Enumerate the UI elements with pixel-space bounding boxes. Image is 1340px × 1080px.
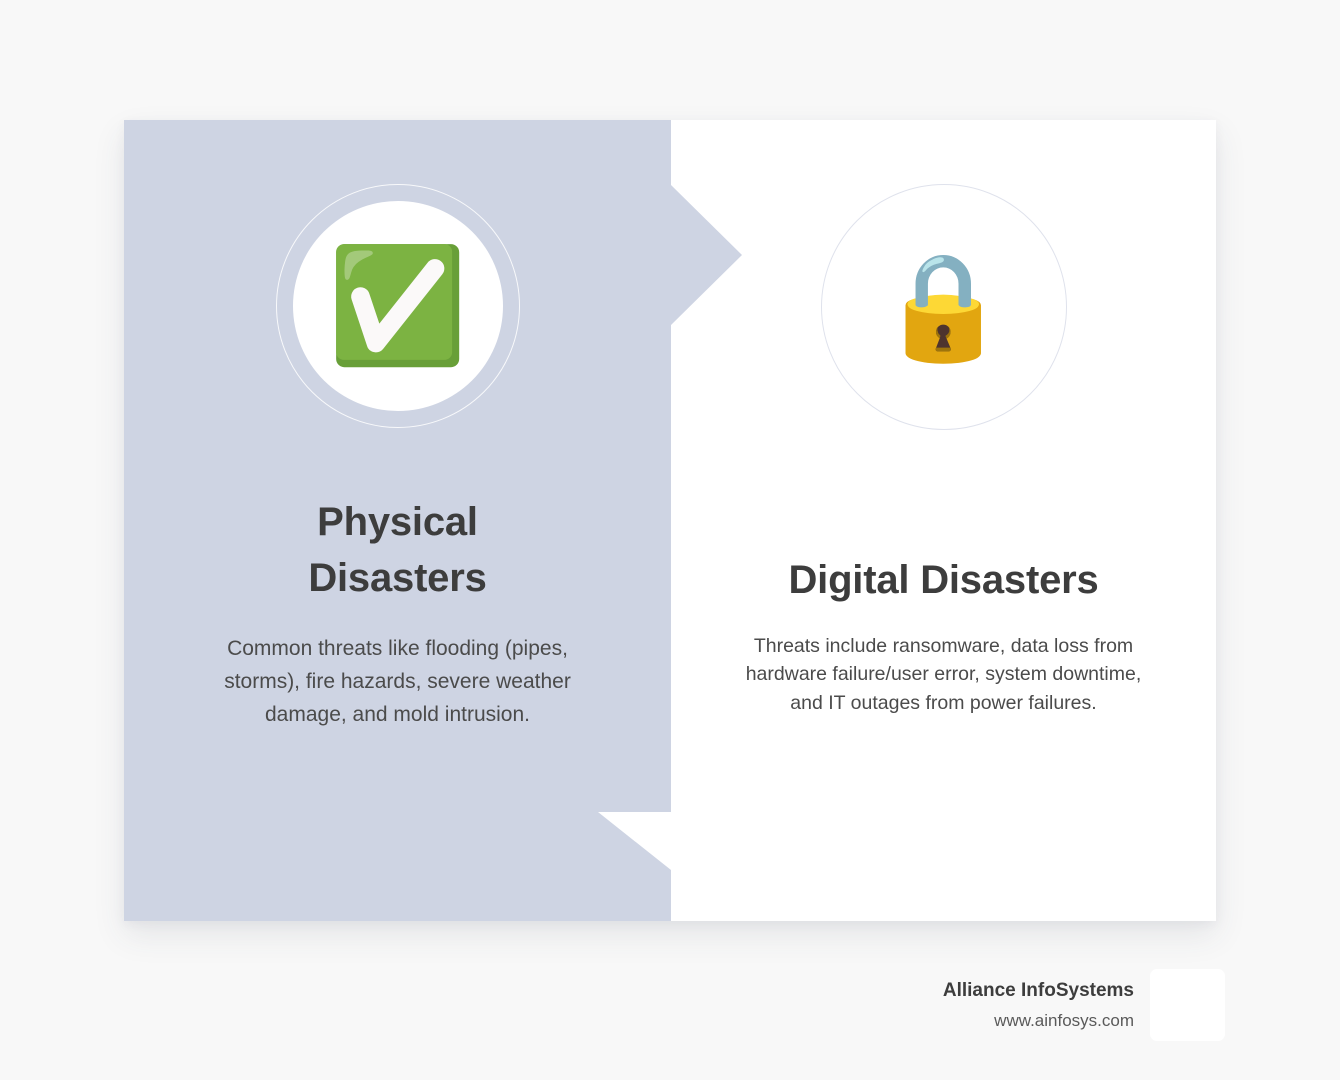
physical-heading: Physical Disasters <box>233 494 563 606</box>
footer-branding: Alliance InfoSystems www.ainfosys.com <box>880 960 1225 1050</box>
digital-icon-badge: 🔒 <box>821 184 1067 430</box>
physical-heading-line-2: Disasters <box>233 550 563 606</box>
physical-description: Common threats like flooding (pipes, sto… <box>198 632 598 732</box>
white-check-mark-icon: ✅ <box>328 250 467 362</box>
brand-text-block: Alliance InfoSystems www.ainfosys.com <box>943 977 1150 1033</box>
digital-description: Threats include ransomware, data loss fr… <box>744 632 1144 717</box>
physical-heading-line-1: Physical <box>233 494 563 550</box>
column-physical-disasters: ✅ Physical Disasters Common threats like… <box>124 120 671 921</box>
brand-name: Alliance InfoSystems <box>943 977 1134 1006</box>
digital-heading: Digital Disasters <box>729 552 1159 608</box>
column-digital-disasters: 🔒 Digital Disasters Threats include rans… <box>671 120 1216 921</box>
brand-url[interactable]: www.ainfosys.com <box>943 1008 1134 1034</box>
physical-icon-badge: ✅ <box>276 184 520 428</box>
lock-icon: 🔒 <box>879 255 1009 359</box>
comparison-card: ✅ Physical Disasters Common threats like… <box>124 120 1216 921</box>
brand-logo-icon <box>1150 969 1225 1041</box>
